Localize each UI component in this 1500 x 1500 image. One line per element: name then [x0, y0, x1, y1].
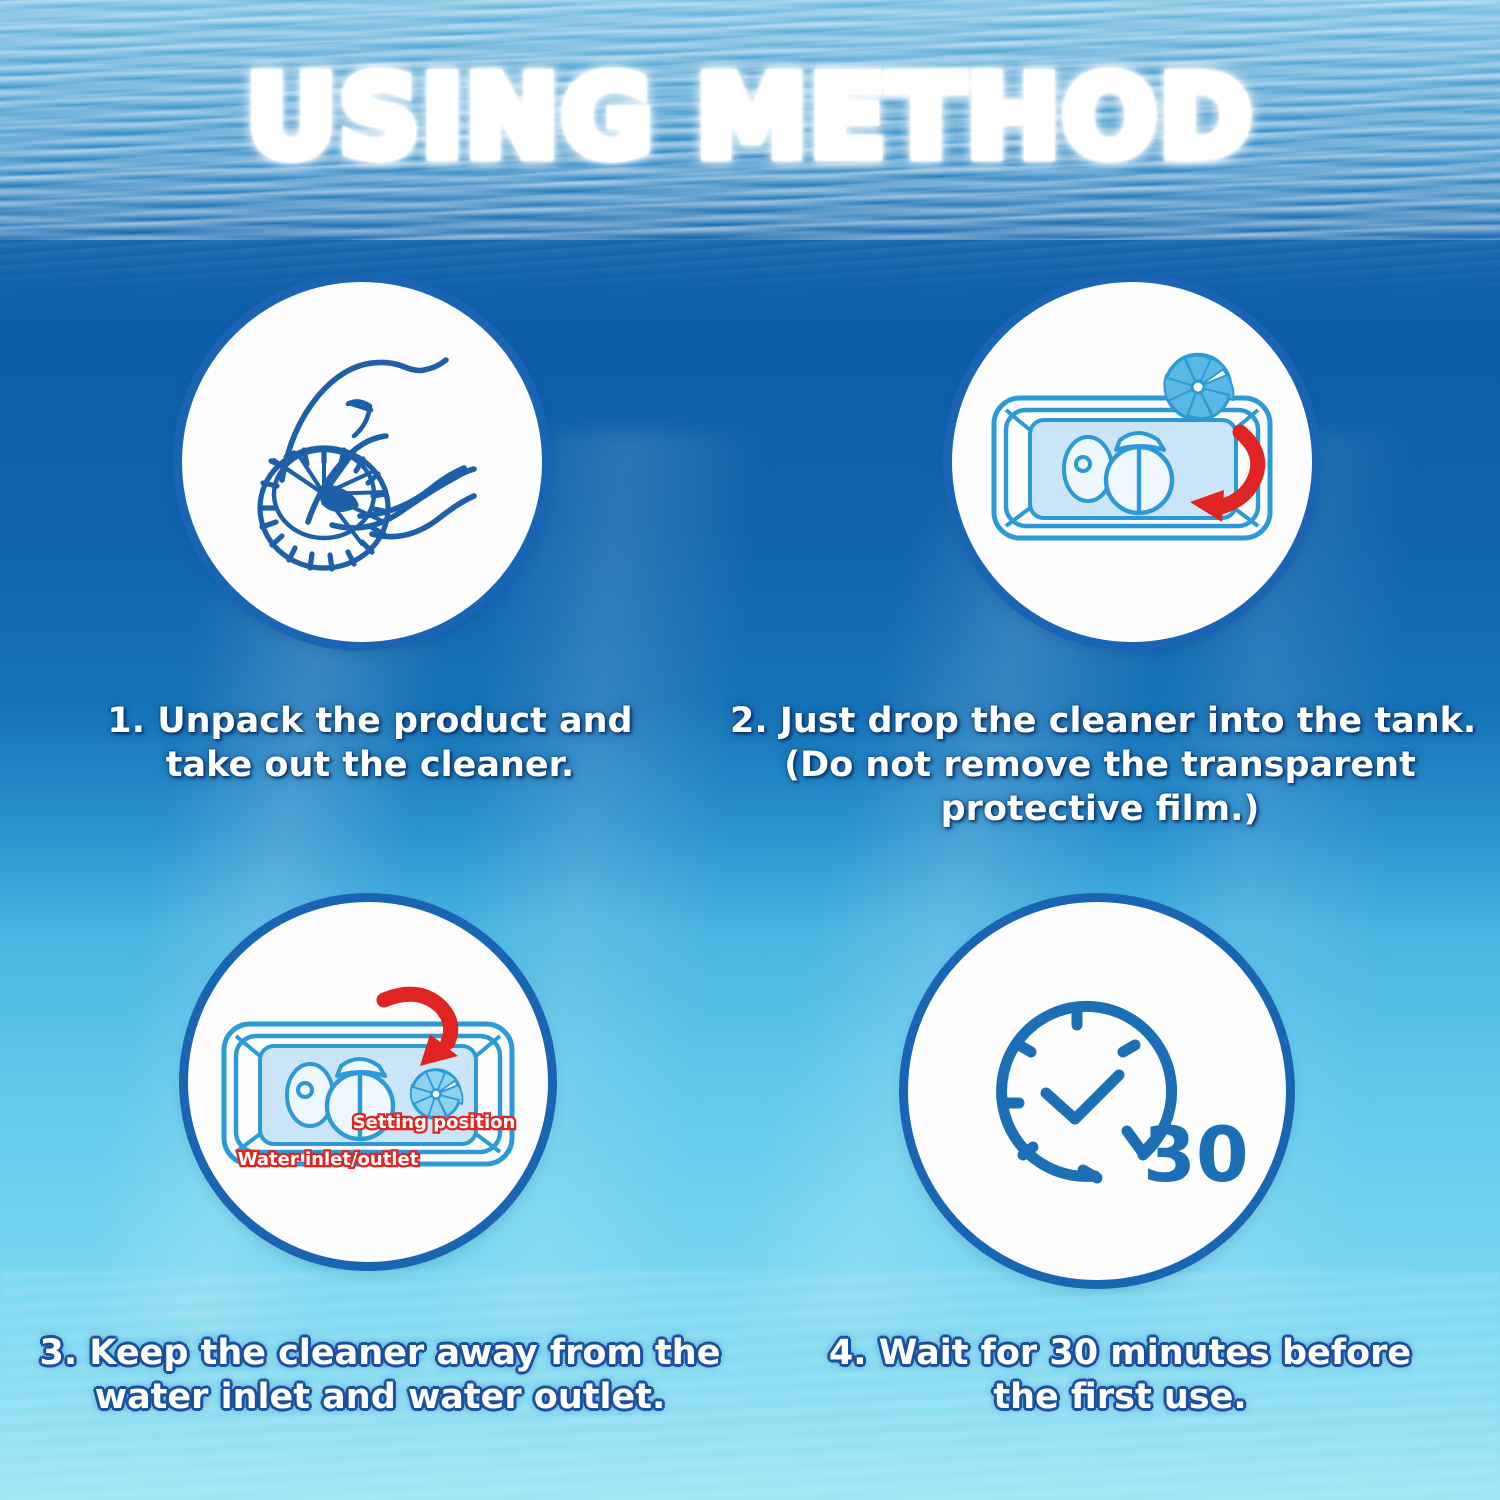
caption-line: 2. Just drop the cleaner into the tank. — [730, 700, 1470, 744]
caption-line: 4. Wait for 30 minutes before — [760, 1332, 1480, 1376]
caption-line: protective film.) — [730, 788, 1470, 832]
step-3-caption: 3. Keep the cleaner away from the water … — [20, 1332, 740, 1420]
clock-value-label: 30 — [1143, 1110, 1247, 1199]
caption-line: 3. Keep the cleaner away from the — [20, 1332, 740, 1376]
infographic-page: USING METHOD — [0, 0, 1500, 1500]
step-1-icon-circle — [182, 282, 542, 642]
cleaner-disc-icon — [1164, 355, 1233, 419]
clock-30-minutes-icon: 30 — [947, 941, 1247, 1241]
step-3-icon-circle: Setting position Water inlet/outlet — [188, 902, 548, 1262]
step-2-caption: 2. Just drop the cleaner into the tank. … — [730, 700, 1470, 831]
page-title-wrap: USING METHOD — [0, 62, 1500, 174]
caption-line: water inlet and water outlet. — [20, 1376, 740, 1420]
caption-line: (Do not remove the transparent — [730, 744, 1470, 788]
water-inlet-outlet-label: Water inlet/outlet — [238, 1149, 419, 1170]
page-title: USING METHOD — [246, 62, 1254, 174]
step-4-caption: 4. Wait for 30 minutes before the first … — [760, 1332, 1480, 1420]
toilet-tank-placement-icon: Setting position Water inlet/outlet — [208, 932, 528, 1232]
step-1-caption: 1. Unpack the product and take out the c… — [60, 700, 680, 788]
caption-line: take out the cleaner. — [60, 744, 680, 788]
caption-line: 1. Unpack the product and — [60, 700, 680, 744]
caption-line: the first use. — [760, 1376, 1480, 1420]
step-2-icon-circle — [952, 282, 1312, 642]
hand-holding-disc-icon — [212, 312, 512, 612]
cleaner-disc-icon — [411, 1070, 463, 1118]
step-4-icon-circle: 30 — [908, 902, 1286, 1280]
toilet-tank-drop-disc-icon — [972, 312, 1292, 612]
setting-position-label: Setting position — [353, 1112, 516, 1133]
